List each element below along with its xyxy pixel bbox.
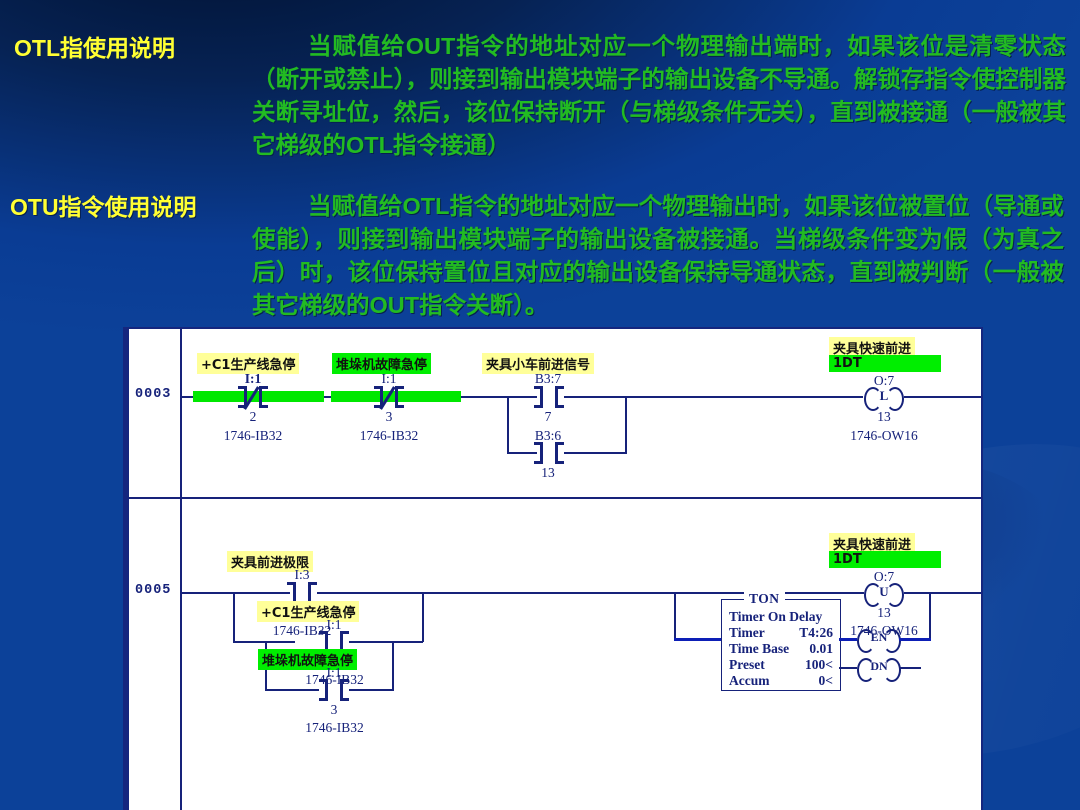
rung0005-wire-end — [904, 592, 983, 594]
rung0003-branch-top-lead — [507, 396, 537, 398]
ton-en-coil[interactable]: EN — [857, 629, 901, 649]
contact3-no-symbol[interactable] — [534, 386, 564, 408]
rung0005-wire-start — [181, 592, 233, 594]
rung0003-branch-bot-tail — [564, 452, 626, 454]
coil0003-bit: 13 — [859, 409, 909, 425]
rung-number-0005: 0005 — [135, 583, 171, 598]
ton-row0-value: T4:26 — [799, 625, 833, 641]
contact1-bit: 2 — [233, 409, 273, 425]
contact2-module: 1746-IB32 — [349, 428, 429, 444]
contact3-bit: 7 — [523, 409, 573, 425]
rung-divider — [129, 497, 981, 499]
coil0003-tag-line2: 1DT — [829, 355, 941, 372]
rung0003-wire-c1-c2 — [324, 396, 331, 398]
ton-subtitle: Timer On Delay — [729, 609, 822, 625]
ton-row1-value: 0.01 — [809, 641, 833, 657]
rung0005-output-branch-left-vert — [674, 592, 676, 640]
rung0003-branch-right-vert — [625, 396, 627, 454]
contact3-address: B3:7 — [523, 371, 573, 387]
ton-en-lead — [839, 638, 857, 641]
coil0003-module: 1746-OW16 — [844, 428, 924, 444]
section-body-otu: 当赋值给OTL指令的地址对应一个物理输出时，如果该位被置位（导通或使能），则接到… — [252, 190, 1064, 322]
contact4-no-symbol[interactable] — [534, 442, 564, 464]
rung0005-c2-tail — [349, 641, 423, 643]
ton-row3-label: Accum — [729, 673, 770, 689]
rung0005-c2-lead — [233, 641, 295, 643]
rung-number-0003: 0003 — [135, 387, 171, 402]
coil0005-bit: 13 — [859, 605, 909, 621]
rung0005-c3-tail — [349, 689, 394, 691]
rung0003-wire-end — [904, 396, 983, 398]
rung0003-wire-to-branch — [461, 396, 507, 398]
coil0005-unlatch-symbol[interactable]: U — [864, 583, 904, 603]
section-heading-otu: OTU指令使用说明 — [10, 188, 197, 222]
slide-canvas: OTL指使用说明 当赋值给OUT指令的地址对应一个物理输出端时，如果该位是清零状… — [0, 0, 1080, 810]
contact1-address: I:1 — [233, 371, 273, 387]
rung0005-contact1-address: I:3 — [277, 567, 327, 583]
rung0003-wire-start — [181, 396, 193, 398]
rung0005-outer-branch-right-vert — [422, 592, 424, 642]
ton-row3-value: 0< — [819, 673, 833, 689]
rung0003-branch-left-vert — [507, 396, 509, 453]
rung0005-contact3-no-symbol[interactable] — [319, 679, 349, 701]
rung0003-wire-to-coil — [625, 396, 863, 398]
contact1-nc-symbol[interactable] — [238, 386, 268, 408]
rung0005-c1-lead — [233, 592, 290, 594]
contact2-bit: 3 — [369, 409, 409, 425]
ton-dn-lead — [839, 667, 857, 669]
ton-en-tail — [899, 638, 931, 641]
rung0005-contact3-module: 1746-IB32 — [292, 720, 377, 736]
rung0005-inner-branch-right-vert — [392, 641, 394, 690]
ton-row2-label: Preset — [729, 657, 765, 673]
coil0003-latch-symbol[interactable]: L — [864, 387, 904, 407]
contact1-module: 1746-IB32 — [213, 428, 293, 444]
section-heading-otl: OTL指使用说明 — [14, 29, 175, 63]
ton-row1-label: Time Base — [729, 641, 789, 657]
rung0005-contact3-bit: 3 — [309, 702, 359, 718]
ton-dn-tail — [899, 667, 921, 669]
ton-timer-block[interactable]: TON Timer On Delay Timer T4:26 Time Base… — [721, 599, 841, 691]
contact4-bit: 13 — [523, 465, 573, 481]
ton-dn-coil[interactable]: DN — [857, 658, 901, 678]
rung0005-wire-to-output-branch — [422, 592, 674, 594]
rung0003-branch-bot-lead — [507, 452, 537, 454]
rung0005-c1-tail — [317, 592, 423, 594]
rung0005-outer-branch-left-vert — [233, 592, 235, 642]
ton-row0-label: Timer — [729, 625, 765, 641]
rung0005-c3-lead — [265, 689, 319, 691]
ton-title: TON — [744, 591, 785, 607]
contact2-nc-symbol[interactable] — [374, 386, 404, 408]
rung0003-branch-top-tail — [564, 396, 626, 398]
coil0005-tag-line2: 1DT — [829, 551, 941, 568]
section-body-otl: 当赋值给OUT指令的地址对应一个物理输出端时，如果该位是清零状态（断开或禁止），… — [252, 30, 1066, 162]
left-power-rail — [180, 329, 182, 810]
rung0005-output-branch-right-vert — [929, 592, 931, 640]
ladder-logic-panel[interactable]: 0003 +C1生产线急停 I:1 2 1746-IB32 堆垛机故障急停 I:… — [123, 327, 983, 810]
ton-row2-value: 100< — [805, 657, 833, 673]
rung0005-ton-input-wire — [674, 638, 721, 641]
contact2-address: I:1 — [369, 371, 409, 387]
